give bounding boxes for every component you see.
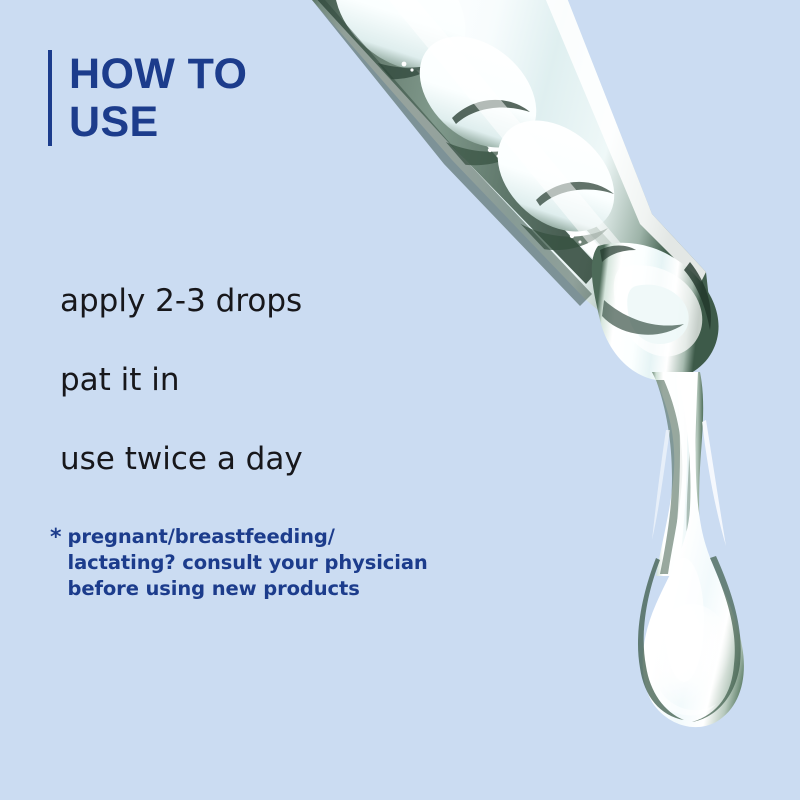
footnote-asterisk-marker: * bbox=[50, 524, 62, 552]
how-to-use-panel: HOW TO USE apply 2-3 drops pat it in use… bbox=[0, 0, 800, 800]
page-heading: HOW TO USE bbox=[48, 50, 247, 146]
hanging-droplet bbox=[638, 372, 744, 727]
list-item: use twice a day bbox=[60, 442, 303, 476]
usage-steps-list: apply 2-3 drops pat it in use twice a da… bbox=[60, 284, 303, 476]
footnote-line: lactating? consult your physician bbox=[68, 551, 428, 574]
footnote-line: pregnant/breastfeeding/ bbox=[68, 525, 335, 548]
footnote-disclaimer: * pregnant/breastfeeding/ lactating? con… bbox=[50, 524, 430, 602]
heading-accent-rule bbox=[48, 50, 52, 146]
pipette-tube bbox=[310, 0, 712, 366]
heading-line-1: HOW TO bbox=[69, 50, 247, 98]
footnote-text-group: pregnant/breastfeeding/ lactating? consu… bbox=[68, 524, 430, 602]
list-item: apply 2-3 drops bbox=[60, 284, 303, 318]
droplet-stem bbox=[652, 372, 703, 576]
pipette-shoulder bbox=[592, 243, 719, 381]
heading-text-group: HOW TO USE bbox=[69, 50, 247, 146]
list-item: pat it in bbox=[60, 363, 303, 397]
heading-line-2: USE bbox=[69, 98, 247, 146]
footnote-line: before using new products bbox=[68, 577, 360, 600]
